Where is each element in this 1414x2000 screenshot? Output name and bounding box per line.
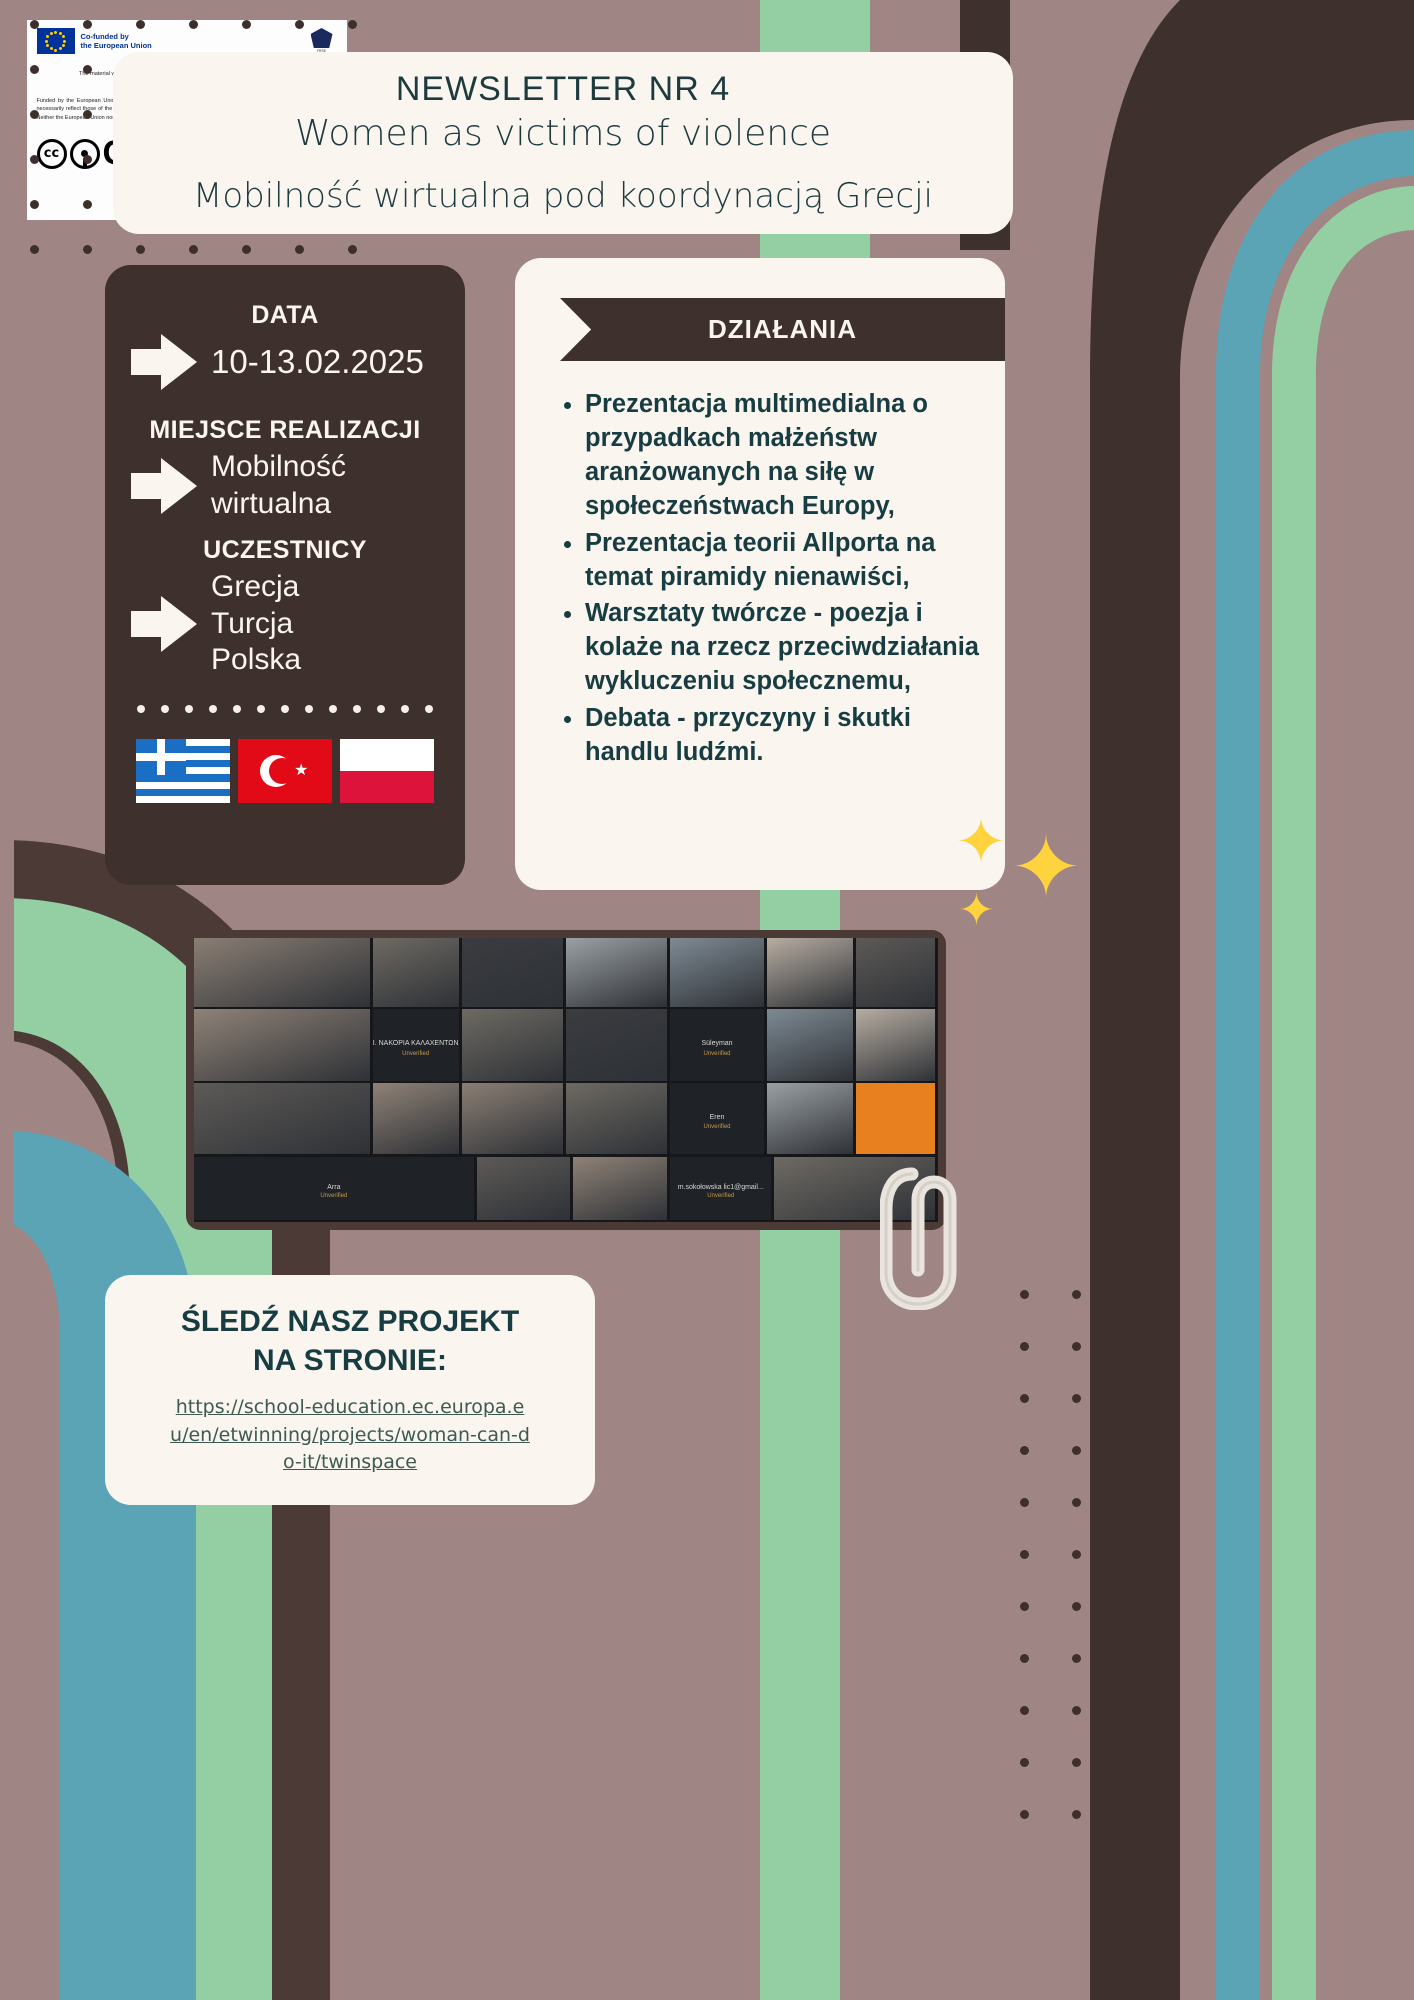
paperclip-icon xyxy=(880,1160,990,1310)
event-info-card: DATA 10-13.02.2025 MIEJSCE REALIZACJI Mo… xyxy=(105,265,465,885)
activity-item: Warsztaty twórcze - poezja i kolaże na r… xyxy=(585,597,987,699)
meeting-tile xyxy=(194,1009,370,1081)
activity-item: Prezentacja multimedialna o przypadkach … xyxy=(585,388,987,524)
flag-row: ★ xyxy=(131,739,439,803)
participant-status: Unverified xyxy=(402,1051,429,1057)
meeting-tile xyxy=(194,1083,370,1155)
activity-item: Debata - przyczyny i skutki handlu ludźm… xyxy=(585,702,987,770)
participant-status: Unverified xyxy=(320,1193,347,1199)
sparkle-icon: ✦ xyxy=(958,885,995,936)
page-subtitle-pl: Mobilność wirtualna pod koordynacją Grec… xyxy=(193,176,933,216)
date-value: 10-13.02.2025 xyxy=(211,342,424,382)
participant-status: Unverified xyxy=(704,1051,731,1057)
meeting-tile xyxy=(194,938,370,1007)
place-row: Mobilność wirtualna xyxy=(131,449,439,522)
meeting-tile xyxy=(566,1009,667,1081)
sparkle-icon: ✦ xyxy=(1010,818,1082,918)
page-title: NEWSLETTER NR 4 xyxy=(396,70,730,109)
participant-name: m.sokołowska lic1@gmail... xyxy=(678,1184,764,1191)
meeting-tile: Ι. ΝΑΚΟΡΙΑ ΚΑΛΑΧΕΝΤΩΝUnverified xyxy=(373,1009,459,1081)
participant-status: Unverified xyxy=(707,1193,734,1199)
meeting-tile xyxy=(767,938,853,1007)
arrow-right-icon xyxy=(131,334,197,390)
meeting-tile xyxy=(573,1157,667,1220)
place-label: MIEJSCE REALIZACJI xyxy=(131,416,439,445)
flag-turkey-icon: ★ xyxy=(238,739,332,803)
participants-label: UCZESTNICY xyxy=(131,536,439,565)
meeting-tile xyxy=(477,1157,571,1220)
meeting-tile xyxy=(767,1009,853,1081)
dot-grid-bottom-right xyxy=(1020,1290,1160,1930)
participant-name: Ι. ΝΑΚΟΡΙΑ ΚΑΛΑΧΕΝΤΩΝ xyxy=(373,1040,459,1047)
page-subtitle-en: Women as victims of violence xyxy=(295,113,831,154)
participant-name: Arra xyxy=(327,1184,340,1191)
meeting-tile xyxy=(373,1083,459,1155)
meeting-tile xyxy=(566,938,667,1007)
site-title-line1: ŚLEDŹ NASZ PROJEKT xyxy=(181,1303,519,1341)
activities-banner: DZIAŁANIA xyxy=(560,298,1005,361)
place-value: Mobilność wirtualna xyxy=(211,449,346,522)
newsletter-header-card: NEWSLETTER NR 4 Women as victims of viol… xyxy=(113,52,1013,234)
meeting-tile xyxy=(373,938,459,1007)
meeting-tile xyxy=(856,1083,935,1155)
meeting-tile: ErenUnverified xyxy=(670,1083,764,1155)
meeting-tile xyxy=(767,1083,853,1155)
activities-list: Prezentacja multimedialna o przypadkach … xyxy=(559,388,987,773)
meeting-tile: m.sokołowska lic1@gmail...Unverified xyxy=(670,1157,771,1220)
meeting-screenshot-frame: Ι. ΝΑΚΟΡΙΑ ΚΑΛΑΧΕΝΤΩΝUnverifiedSüleymanU… xyxy=(186,930,946,1230)
meeting-tile xyxy=(856,938,935,1007)
meeting-tile xyxy=(856,1009,935,1081)
meeting-grid: Ι. ΝΑΚΟΡΙΑ ΚΑΛΑΧΕΝΤΩΝUnverifiedSüleymanU… xyxy=(194,938,938,1222)
sparkle-icon: ✦ xyxy=(955,805,1007,878)
meeting-tile xyxy=(670,938,764,1007)
meeting-tile: SüleymanUnverified xyxy=(670,1009,764,1081)
meeting-tile: ArraUnverified xyxy=(194,1157,474,1220)
meeting-tile xyxy=(462,1009,563,1081)
meeting-tile xyxy=(462,1083,563,1155)
project-site-card: ŚLEDŹ NASZ PROJEKT NA STRONIE: https://s… xyxy=(105,1275,595,1505)
participant-name: Süleyman xyxy=(701,1040,732,1047)
date-row: 10-13.02.2025 xyxy=(131,334,439,390)
activity-item: Prezentacja teorii Allporta na temat pir… xyxy=(585,527,987,595)
activities-banner-label: DZIAŁANIA xyxy=(708,314,857,345)
date-label: DATA xyxy=(131,301,439,330)
meeting-tile xyxy=(566,1083,667,1155)
arrow-right-icon xyxy=(131,458,197,514)
participants-value: Grecja Turcja Polska xyxy=(211,569,301,679)
arrow-right-icon xyxy=(131,596,197,652)
flag-greece-icon xyxy=(136,739,230,803)
site-title-line2: NA STRONIE: xyxy=(181,1342,519,1380)
participant-name: Eren xyxy=(710,1114,725,1121)
participants-row: Grecja Turcja Polska xyxy=(131,569,439,679)
project-url-link[interactable]: https://school-education.ec.europa.eu/en… xyxy=(170,1394,530,1477)
meeting-tile xyxy=(462,938,563,1007)
dot-divider xyxy=(131,705,439,713)
flag-poland-icon xyxy=(340,739,434,803)
activities-card: DZIAŁANIA Prezentacja multimedialna o pr… xyxy=(515,258,1005,890)
participant-status: Unverified xyxy=(704,1124,731,1130)
site-card-title: ŚLEDŹ NASZ PROJEKT NA STRONIE: xyxy=(181,1303,519,1380)
